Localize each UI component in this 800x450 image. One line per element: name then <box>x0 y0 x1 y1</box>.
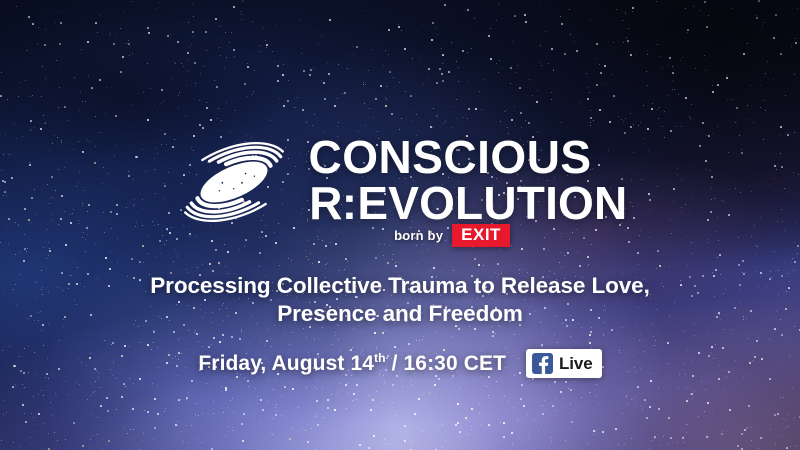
event-time: 16:30 <box>404 352 458 375</box>
sponsor-lockup: born by EXIT <box>0 224 800 247</box>
event-date-ordinal: th <box>374 351 386 365</box>
wordmark-line-revolution: Я:EVOLUTION <box>309 181 628 225</box>
mirrored-r-glyph: Я <box>309 181 342 225</box>
facebook-icon <box>532 353 553 374</box>
sponsor-prefix-label: born by <box>394 228 443 243</box>
headline-line-2: Presence and Freedom <box>277 301 523 326</box>
event-headline: Processing Collective Trauma to Release … <box>80 272 720 329</box>
live-label: Live <box>559 354 593 374</box>
schedule-separator: / <box>392 352 398 375</box>
wordmark-line-conscious: CONSCIOUS <box>309 135 592 179</box>
event-timezone: CET <box>464 352 506 375</box>
galaxy-spiral-icon <box>173 134 295 230</box>
event-date-number: 14 <box>350 352 374 375</box>
promo-banner: CONSCIOUS Я:EVOLUTION born by EXIT Proce… <box>0 0 800 450</box>
event-datetime: Friday, August14th / 16:30 CET <box>198 351 506 376</box>
event-day-month: Friday, August <box>198 352 344 375</box>
wordmark-revolution-rest: :EVOLUTION <box>342 181 628 225</box>
wordmark: CONSCIOUS Я:EVOLUTION <box>309 135 628 225</box>
exit-logo-badge: EXIT <box>452 224 510 247</box>
facebook-live-badge[interactable]: Live <box>526 349 602 378</box>
schedule-row: Friday, August14th / 16:30 CET Live <box>0 349 800 378</box>
brand-lockup: CONSCIOUS Я:EVOLUTION <box>0 130 800 230</box>
headline-line-1: Processing Collective Trauma to Release … <box>150 273 649 298</box>
